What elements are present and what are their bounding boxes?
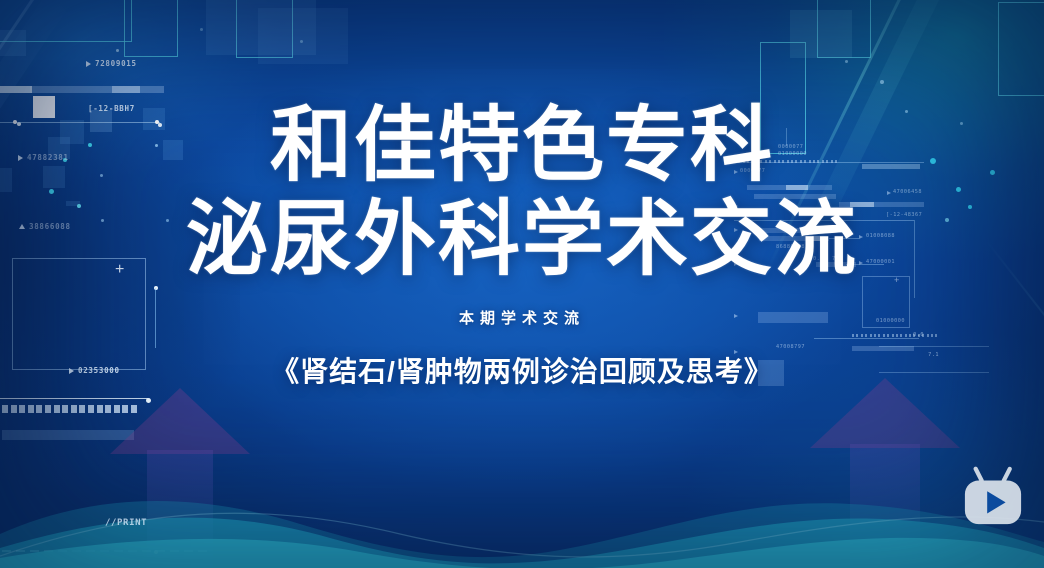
poster-subtitle-topic: 《肾结石/肾肿物两例诊治回顾及思考》: [0, 350, 1044, 390]
hud-bar-1: [30, 86, 164, 93]
poster-title-line-1: 和佳特色专科: [0, 104, 1044, 188]
poster-subtitle-label: 本期学术交流: [0, 307, 1044, 328]
deco-dot-21: [845, 60, 848, 63]
hud-bar-1-seg: [112, 86, 140, 93]
poster-canvas: 72809015 [-12-BBH7 47882381 38866088 + 0…: [0, 0, 1044, 568]
triangle-right-icon: [86, 61, 91, 67]
bottom-waves: [0, 438, 1044, 568]
deco-dot-23: [300, 40, 303, 43]
hud-bar-1-highlight: [0, 86, 32, 93]
filled-square-12: [790, 10, 852, 58]
filled-square-2: [0, 30, 26, 56]
outline-rect-2: [124, 0, 178, 57]
hud-label-72809015: 72809015: [86, 59, 137, 68]
poster-title-line-2: 泌尿外科学术交流: [0, 198, 1044, 282]
deco-dot-1: [116, 49, 119, 52]
filled-square-11: [258, 8, 348, 64]
title-block: 和佳特色专科 泌尿外科学术交流 本期学术交流 《肾结石/肾肿物两例诊治回顾及思考…: [0, 104, 1044, 390]
print-watermark: //PRINT: [105, 518, 147, 528]
hud-label-text: 72809015: [95, 59, 137, 68]
outline-rect-6: [998, 2, 1044, 96]
deco-dot-19: [880, 80, 884, 84]
deco-dot-24: [200, 28, 203, 31]
bilibili-tv-logo-icon[interactable]: [962, 466, 1024, 528]
